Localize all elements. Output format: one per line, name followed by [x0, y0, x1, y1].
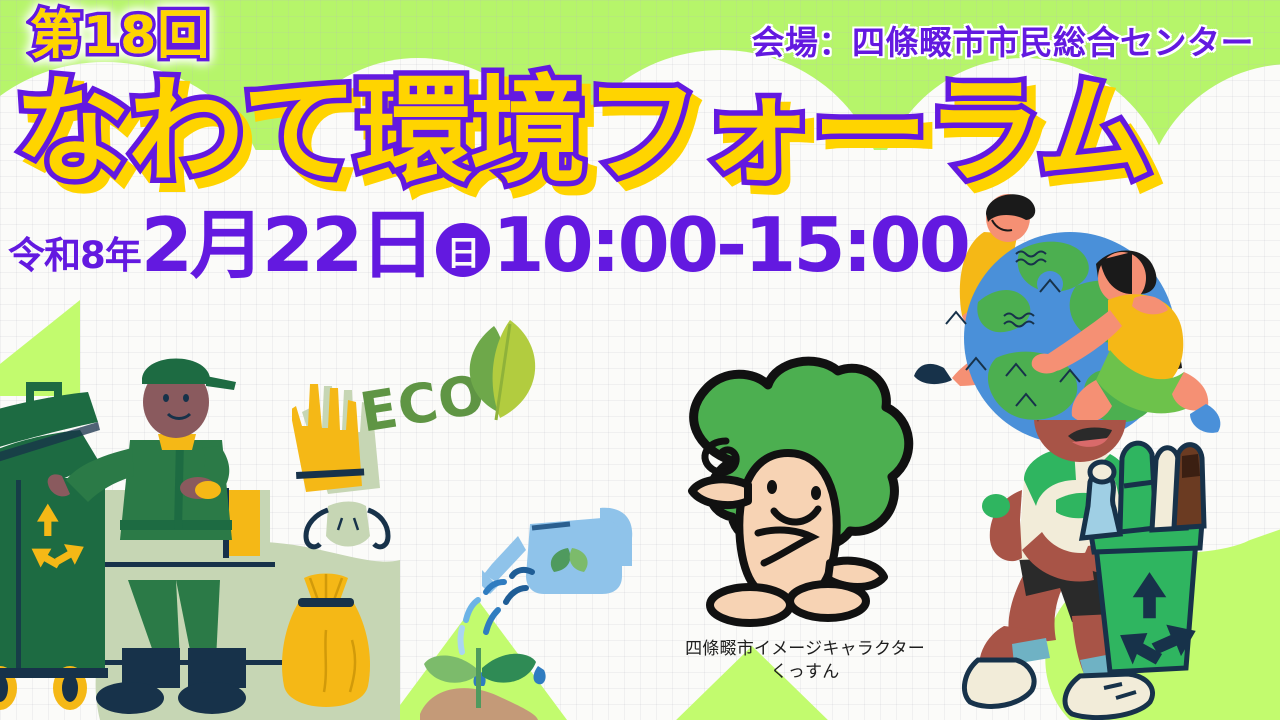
month-day: 2月22日: [141, 208, 433, 283]
trash-bag-icon: [266, 570, 386, 720]
mascot-caption-line2: くっすん: [660, 661, 950, 684]
weekday-badge: 日: [436, 223, 490, 277]
mascot-caption-line1: 四條畷市イメージキャラクター: [660, 638, 950, 661]
event-poster: ECO: [0, 0, 1280, 720]
venue-line: 会場：四條畷市市民総合センター: [752, 16, 1255, 64]
era-year: 令和8年: [8, 237, 141, 283]
mask-icon: [300, 500, 392, 562]
recycler-boy-illustration: [960, 420, 1280, 720]
date-time-line: 令和8年 2月22日 日 10:00-15:00: [8, 208, 968, 283]
mascot-kussun: [640, 345, 940, 645]
page-title: なわて環境フォーラム なわて環境フォーラム: [14, 74, 1151, 190]
time-range: 10:00-15:00: [492, 208, 968, 283]
sprout-icon: [404, 620, 554, 720]
issue-number-badge: 第18回: [30, 10, 210, 62]
title-front-layer: なわて環境フォーラム: [14, 64, 1151, 199]
leaf-icon: [452, 316, 548, 428]
mascot-caption: 四條畷市イメージキャラクター くっすん: [660, 638, 950, 684]
